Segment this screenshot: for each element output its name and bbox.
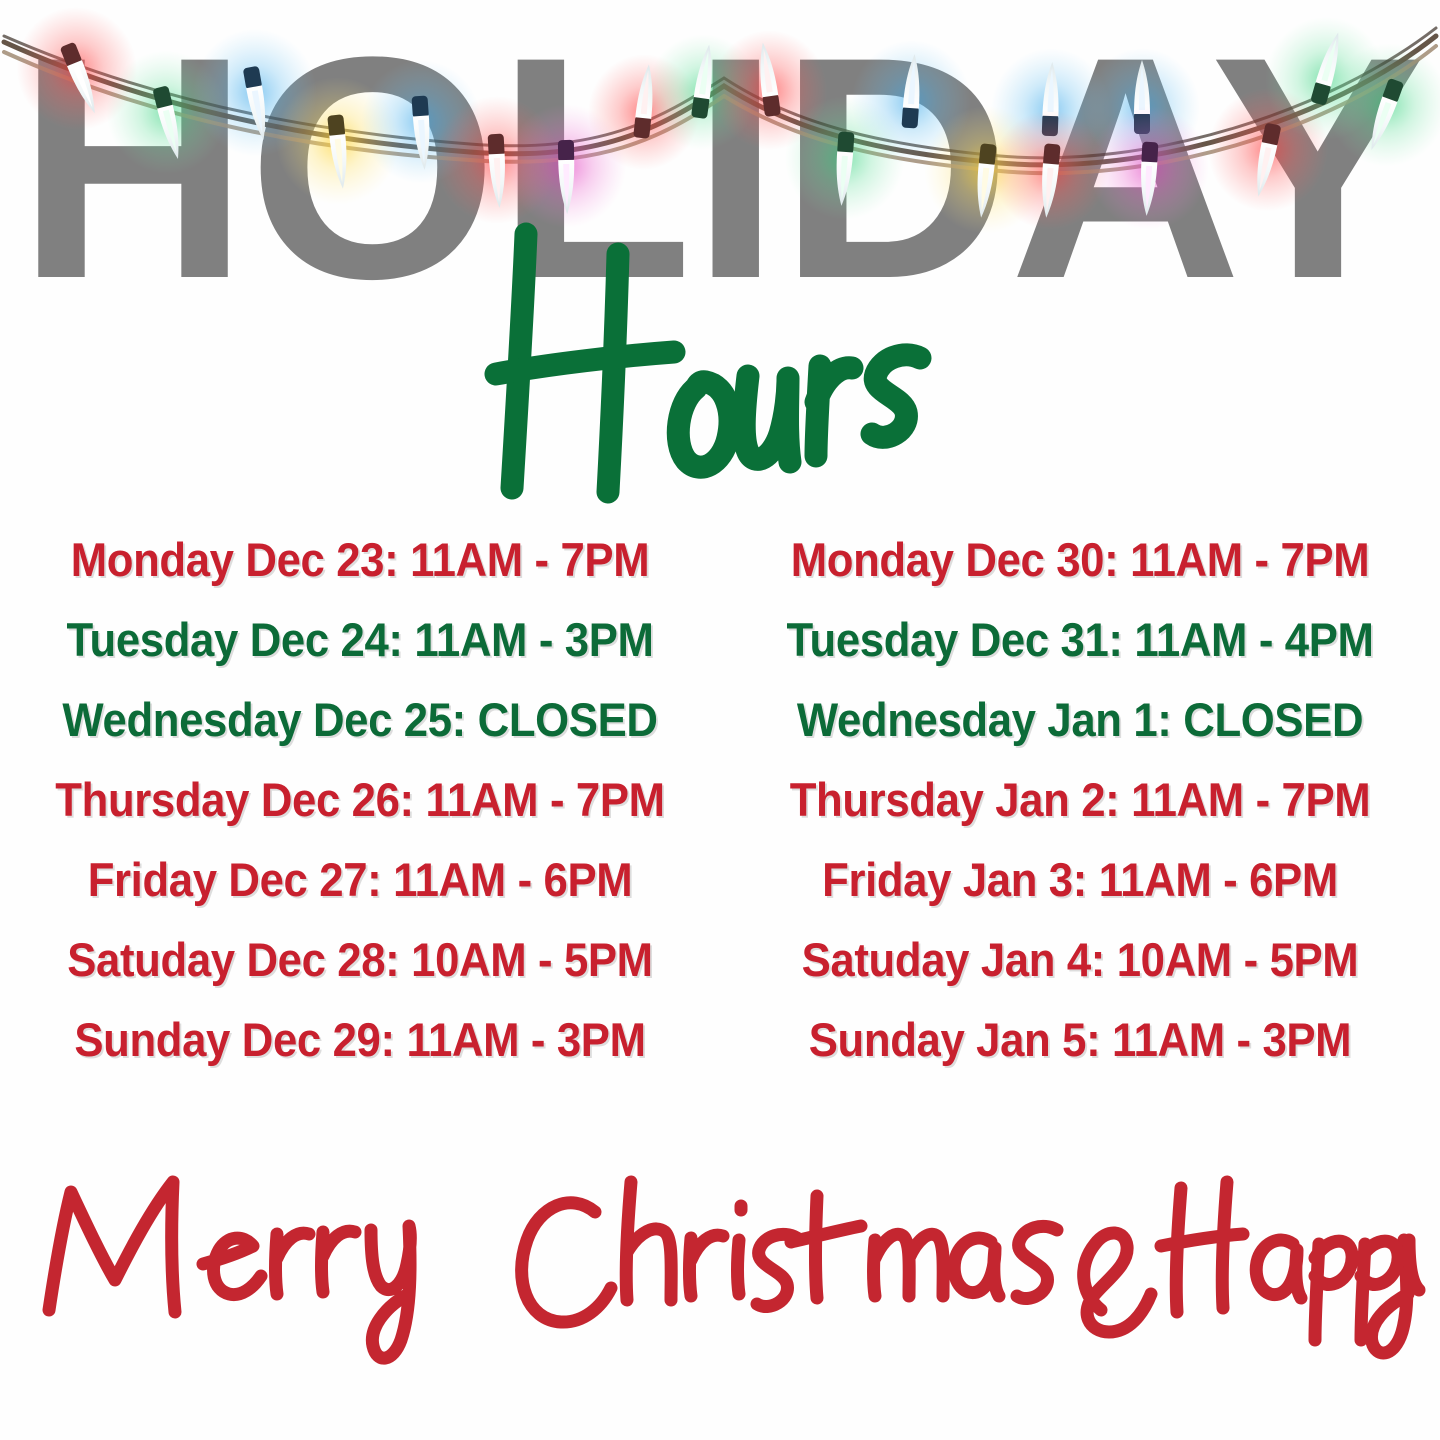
poster-header: HOLIDAY: [0, 0, 1440, 510]
hours-row: Sunday Dec 29: 11AM - 3PM: [25, 1000, 695, 1080]
hours-row: Friday Jan 3: 11AM - 6PM: [745, 840, 1415, 920]
hours-row: Sunday Jan 5: 11AM - 3PM: [745, 1000, 1415, 1080]
hours-row: Wednesday Dec 25: CLOSED: [25, 680, 695, 760]
hours-row: Thursday Dec 26: 11AM - 7PM: [25, 760, 695, 840]
hours-row: Satuday Jan 4: 10AM - 5PM: [745, 920, 1415, 1000]
hours-row: Friday Dec 27: 11AM - 6PM: [25, 840, 695, 920]
hours-row: Monday Dec 23: 11AM - 7PM: [25, 520, 695, 600]
hours-row: Satuday Dec 28: 10AM - 5PM: [25, 920, 695, 1000]
hours-row: Monday Dec 30: 11AM - 7PM: [745, 520, 1415, 600]
hours-column-left: Monday Dec 23: 11AM - 7PM Tuesday Dec 24…: [0, 520, 720, 1140]
greeting-message: [0, 1160, 1440, 1410]
page-title: HOLIDAY: [0, 38, 1440, 297]
hours-row: Wednesday Jan 1: CLOSED: [745, 680, 1415, 760]
hours-row: Tuesday Dec 31: 11AM - 4PM: [745, 600, 1415, 680]
hours-row: Tuesday Dec 24: 11AM - 3PM: [25, 600, 695, 680]
hours-column-right: Monday Dec 30: 11AM - 7PM Tuesday Dec 31…: [720, 520, 1440, 1140]
hours-row: Thursday Jan 2: 11AM - 7PM: [745, 760, 1415, 840]
holiday-hours-grid: Monday Dec 23: 11AM - 7PM Tuesday Dec 24…: [0, 520, 1440, 1140]
